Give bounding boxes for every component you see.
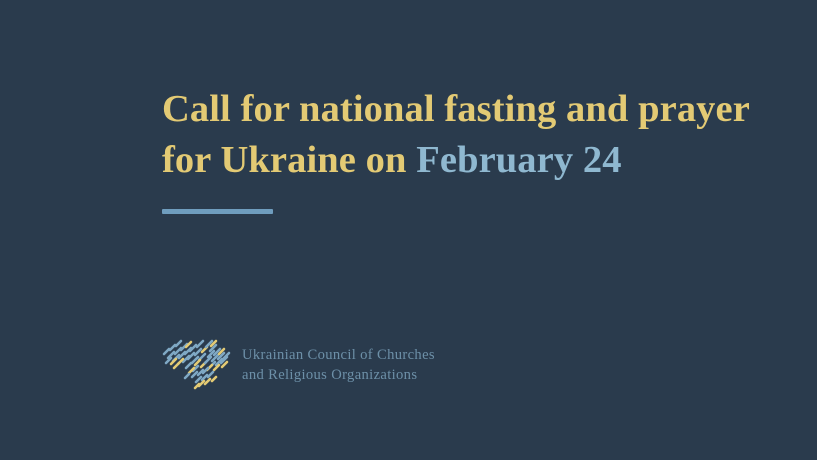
page-title: Call for national fasting and prayer for… (162, 84, 782, 186)
title-divider (162, 209, 273, 214)
ukraine-map-dashes-icon (162, 337, 234, 393)
organization-lockup: Ukrainian Council of Churches and Religi… (162, 337, 435, 393)
slide-canvas: Call for national fasting and prayer for… (0, 0, 817, 460)
title-line-2-prefix: for Ukraine on (162, 139, 416, 181)
title-line-1: Call for national fasting and prayer (162, 84, 782, 135)
organization-name-line-2: and Religious Organizations (242, 365, 435, 385)
title-block: Call for national fasting and prayer for… (162, 84, 782, 186)
title-line-2: for Ukraine on February 24 (162, 135, 782, 186)
title-date-accent: February 24 (416, 139, 621, 181)
organization-name-line-1: Ukrainian Council of Churches (242, 345, 435, 365)
organization-name: Ukrainian Council of Churches and Religi… (242, 345, 435, 385)
